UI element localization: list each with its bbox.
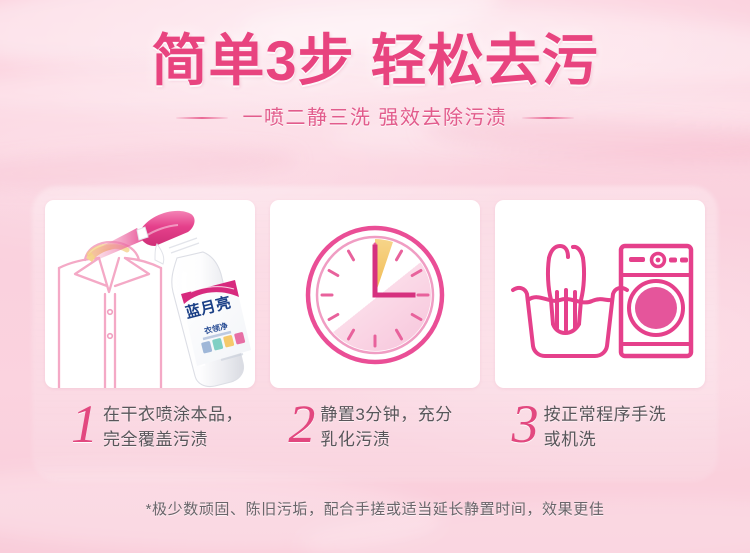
step-2-line-1: 静置3分钟，充分 xyxy=(320,405,452,424)
bottle-trigger-lever xyxy=(155,244,164,264)
subtitle-divider-right xyxy=(522,117,574,119)
machine-dial-center xyxy=(656,258,661,263)
step-item-1: 1 在干衣喷涂本品， 完全覆盖污渍 xyxy=(45,396,268,468)
step-text-3: 按正常程序手洗 或机洗 xyxy=(544,398,667,452)
spray-bottle: 蓝月亮 衣领净 xyxy=(137,211,251,387)
step-number-2: 2 xyxy=(288,398,315,450)
step-number-3: 3 xyxy=(512,398,539,450)
shirt-button xyxy=(108,334,113,339)
handwash-machinewash-illustration xyxy=(495,200,705,388)
page-title-part2: 轻松去污 xyxy=(371,29,599,92)
step-text-2: 静置3分钟，充分 乳化污渍 xyxy=(320,398,452,452)
machine-indicator xyxy=(680,258,688,263)
shirt-outline xyxy=(59,258,161,388)
step-number-1: 1 xyxy=(71,398,98,450)
subtitle-row: 一喷二静三洗 强效去除污渍 xyxy=(0,106,750,130)
footnote: *极少数顽固、陈旧污垢，配合手搓或适当延长静置时间，效果更佳 xyxy=(0,500,750,520)
machine-drum xyxy=(635,287,677,329)
header: 简单3步轻松去污 一喷二静三洗 强效去除污渍 xyxy=(0,0,750,130)
step-3-line-1: 按正常程序手洗 xyxy=(544,405,667,424)
clock xyxy=(308,228,442,362)
page-title-part1: 简单3步 xyxy=(151,29,354,92)
promo-page: 简单3步轻松去污 一喷二静三洗 强效去除污渍 xyxy=(0,0,750,553)
machine-detergent-slot xyxy=(629,257,645,262)
illustration-card-list: 蓝月亮 衣领净 xyxy=(45,200,705,388)
card-wait-three-minutes xyxy=(270,200,480,388)
clock-three-minutes-illustration xyxy=(270,200,480,388)
spray-on-collar-illustration: 蓝月亮 衣领净 xyxy=(45,200,255,388)
step-1-line-1: 在干衣喷涂本品， xyxy=(103,405,243,424)
step-3-line-2: 或机洗 xyxy=(544,430,597,449)
page-title: 简单3步轻松去污 xyxy=(0,0,750,92)
shirt-button xyxy=(108,310,113,315)
handwash-icon xyxy=(513,246,627,356)
step-list: 1 在干衣喷涂本品， 完全覆盖污渍 2 静置3分钟，充分 乳化污渍 3 按正常程… xyxy=(45,396,715,468)
machine-indicator xyxy=(669,258,677,263)
card-spray-on-collar: 蓝月亮 衣领净 xyxy=(45,200,255,388)
step-2-line-2: 乳化污渍 xyxy=(320,430,390,449)
page-subtitle: 一喷二静三洗 强效去除污渍 xyxy=(242,106,507,130)
step-text-1: 在干衣喷涂本品， 完全覆盖污渍 xyxy=(103,398,243,452)
card-wash-normally xyxy=(495,200,705,388)
washing-machine-icon xyxy=(621,246,691,356)
step-1-line-2: 完全覆盖污渍 xyxy=(103,430,208,449)
step-item-2: 2 静置3分钟，充分 乳化污渍 xyxy=(268,396,491,468)
subtitle-divider-left xyxy=(176,117,228,119)
step-item-3: 3 按正常程序手洗 或机洗 xyxy=(492,396,715,468)
